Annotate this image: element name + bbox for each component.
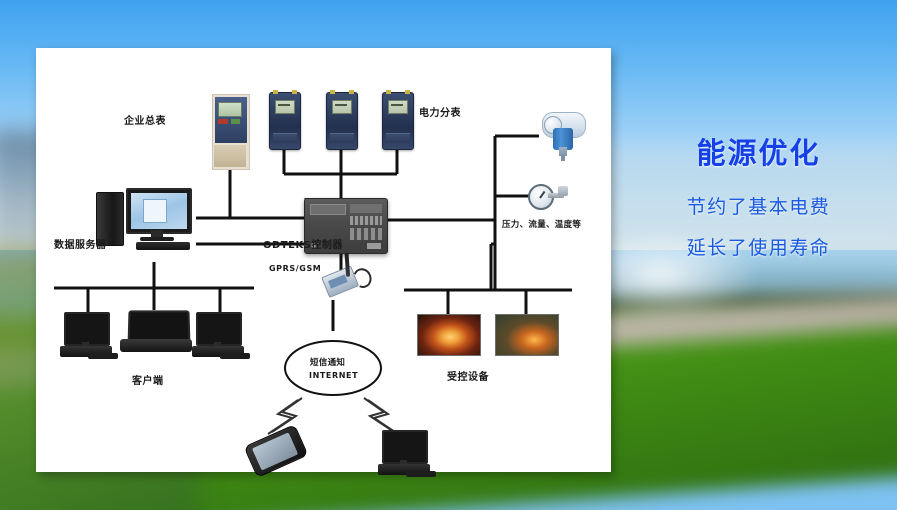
- label-clients: 客户端: [132, 372, 164, 387]
- sub-meter-icon: [382, 92, 414, 150]
- label-sensors: 压力、流量、温度等: [502, 218, 581, 230]
- diagram-panel: 企业总表 电力分表 压力、流量、温度等 ODTEKS控制器: [36, 48, 611, 472]
- client-pc-icon: [58, 312, 118, 360]
- label-cloud-sms: 短信通知: [310, 356, 345, 368]
- cloud-icon: [285, 341, 381, 395]
- label-equipment: 受控设备: [447, 368, 489, 383]
- connection-lines: [36, 48, 611, 472]
- label-main-meter: 企业总表: [124, 112, 166, 127]
- remote-pc-icon: [376, 430, 436, 478]
- label-data-server: 数据服务器: [54, 236, 107, 251]
- benefit-line-1: 节约了基本电费: [620, 192, 897, 219]
- furnace-photo-icon: [417, 314, 481, 356]
- sub-meter-icon: [326, 92, 358, 150]
- pressure-gauge-icon: [528, 184, 568, 210]
- label-controller: ODTEKS控制器: [263, 236, 343, 251]
- page-title: 能源优化: [620, 130, 897, 172]
- diagram-canvas: 企业总表 电力分表 压力、流量、温度等 ODTEKS控制器: [36, 48, 611, 472]
- client-laptop-icon: [120, 310, 192, 354]
- client-pc-icon: [190, 312, 250, 360]
- plant-photo-icon: [495, 314, 559, 356]
- benefit-line-2: 延长了使用寿命: [620, 233, 897, 260]
- sub-meter-icon: [269, 92, 301, 150]
- label-cloud-internet: INTERNET: [309, 371, 358, 380]
- main-meter-icon: [212, 94, 250, 170]
- desktop-server-icon: [96, 188, 196, 250]
- pressure-transmitter-icon: [536, 110, 590, 162]
- sidebar-text-block: 能源优化 节约了基本电费 延长了使用寿命: [620, 130, 897, 260]
- label-sub-meters: 电力分表: [419, 104, 461, 119]
- label-gprs: GPRS/GSM: [269, 264, 321, 273]
